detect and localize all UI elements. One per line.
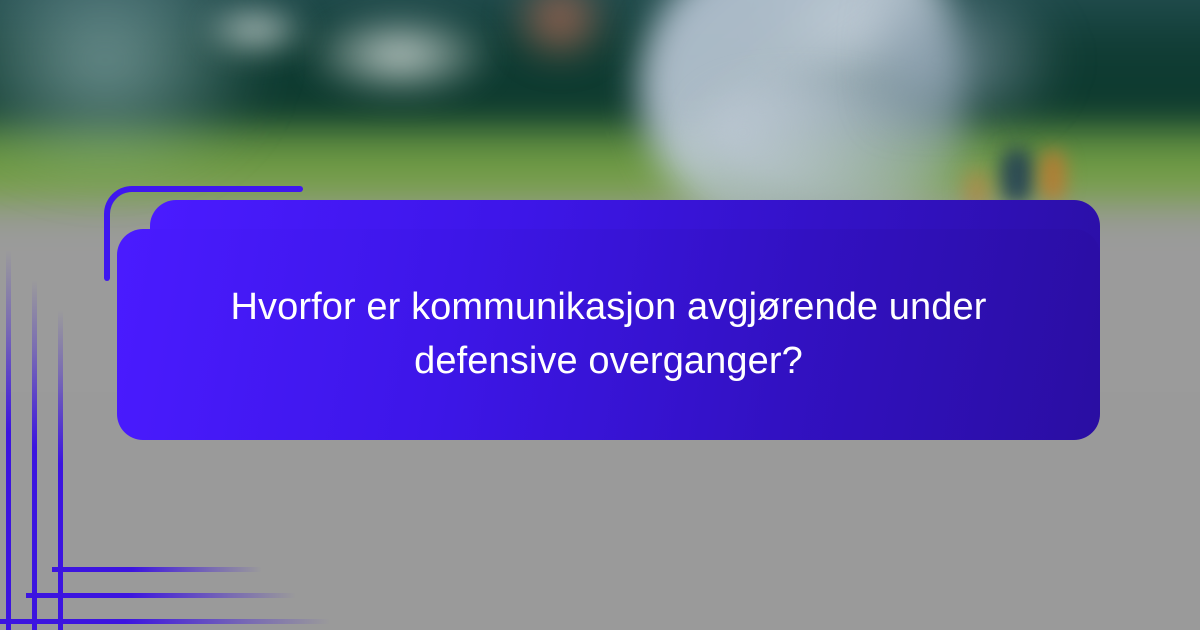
poster-canvas: Hvorfor er kommunikasjon avgjørende unde…	[0, 0, 1200, 630]
background-player-arm	[880, 0, 1070, 120]
background-orange-accent	[500, 0, 620, 74]
background-banner-blob	[300, 10, 500, 100]
background-distant-cone	[1040, 150, 1066, 202]
quote-card: Hvorfor er kommunikasjon avgjørende unde…	[117, 229, 1100, 440]
question-text: Hvorfor er kommunikasjon avgjørende unde…	[189, 281, 1029, 389]
background-banner-blob-secondary	[196, 0, 316, 60]
background-distant-figure	[1000, 148, 1034, 204]
